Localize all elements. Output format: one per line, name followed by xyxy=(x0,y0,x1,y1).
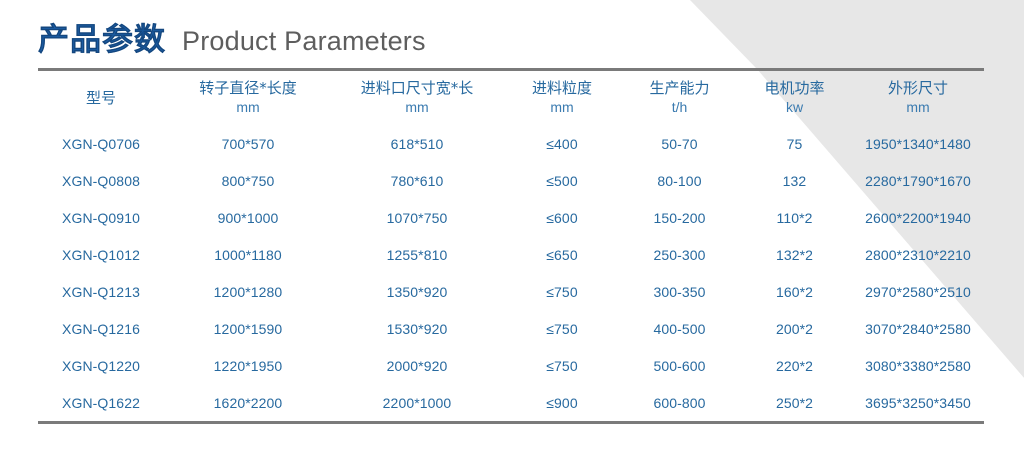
column-header-rotor-label: 转子直径*长度 xyxy=(164,79,332,98)
table-row: XGN-Q12161200*15901530*920≤750400-500200… xyxy=(38,310,984,347)
table-cell-feed_size: ≤750 xyxy=(502,273,622,310)
column-header-feed-opening-unit: mm xyxy=(332,99,502,117)
column-header-feed-size-unit: mm xyxy=(502,99,622,117)
table-cell-dimension: 2970*2580*2510 xyxy=(852,273,984,310)
table-row: XGN-Q12131200*12801350*920≤750300-350160… xyxy=(38,273,984,310)
table-cell-dimension: 3070*2840*2580 xyxy=(852,310,984,347)
table-cell-rotor: 1000*1180 xyxy=(164,236,332,273)
table-cell-capacity: 150-200 xyxy=(622,199,737,236)
column-header-rotor-unit: mm xyxy=(164,99,332,117)
table-cell-rotor: 1200*1590 xyxy=(164,310,332,347)
table-row: XGN-Q16221620*22002200*1000≤900600-80025… xyxy=(38,384,984,421)
column-header-model-label: 型号 xyxy=(38,89,164,108)
table-row: XGN-Q12201220*19502000*920≤750500-600220… xyxy=(38,347,984,384)
table-cell-dimension: 2280*1790*1670 xyxy=(852,162,984,199)
table-cell-capacity: 250-300 xyxy=(622,236,737,273)
table-cell-feed_open: 1530*920 xyxy=(332,310,502,347)
table-cell-feed_size: ≤750 xyxy=(502,347,622,384)
table-cell-power: 75 xyxy=(737,125,852,162)
table-cell-power: 200*2 xyxy=(737,310,852,347)
table-cell-feed_open: 618*510 xyxy=(332,125,502,162)
table-cell-feed_open: 2200*1000 xyxy=(332,384,502,421)
column-header-motor-power-label: 电机功率 xyxy=(737,79,852,98)
column-header-feed-size: 进料粒度 mm xyxy=(502,71,622,125)
table-row: XGN-Q10121000*11801255*810≤650250-300132… xyxy=(38,236,984,273)
table-cell-feed_open: 1350*920 xyxy=(332,273,502,310)
table-cell-feed_open: 1255*810 xyxy=(332,236,502,273)
column-header-feed-size-label: 进料粒度 xyxy=(502,79,622,98)
page-header: 产品参数 Product Parameters xyxy=(38,14,426,59)
column-header-dimension-label: 外形尺寸 xyxy=(852,79,984,98)
table-cell-model: XGN-Q1622 xyxy=(38,384,164,421)
table-cell-model: XGN-Q0706 xyxy=(38,125,164,162)
table-cell-capacity: 80-100 xyxy=(622,162,737,199)
table-cell-rotor: 1200*1280 xyxy=(164,273,332,310)
table-cell-rotor: 1220*1950 xyxy=(164,347,332,384)
table-cell-capacity: 600-800 xyxy=(622,384,737,421)
table-cell-model: XGN-Q1213 xyxy=(38,273,164,310)
page-title-cn: 产品参数 xyxy=(38,14,166,59)
table-row: XGN-Q0910900*10001070*750≤600150-200110*… xyxy=(38,199,984,236)
table-header-row: 型号 转子直径*长度 mm 进料口尺寸宽*长 mm 进料粒度 mm xyxy=(38,71,984,125)
column-header-dimension: 外形尺寸 mm xyxy=(852,71,984,125)
table-cell-capacity: 300-350 xyxy=(622,273,737,310)
table-cell-feed_size: ≤500 xyxy=(502,162,622,199)
table-cell-rotor: 900*1000 xyxy=(164,199,332,236)
table-cell-dimension: 2600*2200*1940 xyxy=(852,199,984,236)
column-header-capacity-label: 生产能力 xyxy=(622,79,737,98)
table-header: 型号 转子直径*长度 mm 进料口尺寸宽*长 mm 进料粒度 mm xyxy=(38,71,984,125)
table-body: XGN-Q0706700*570618*510≤40050-70751950*1… xyxy=(38,125,984,421)
table-cell-dimension: 3080*3380*2580 xyxy=(852,347,984,384)
table-cell-capacity: 500-600 xyxy=(622,347,737,384)
column-header-capacity: 生产能力 t/h xyxy=(622,71,737,125)
table-row: XGN-Q0706700*570618*510≤40050-70751950*1… xyxy=(38,125,984,162)
table-cell-power: 110*2 xyxy=(737,199,852,236)
column-header-feed-opening-label: 进料口尺寸宽*长 xyxy=(332,79,502,98)
table-cell-feed_open: 1070*750 xyxy=(332,199,502,236)
column-header-motor-power-unit: kw xyxy=(737,99,852,117)
table-bottom-rule xyxy=(38,421,984,424)
table-cell-capacity: 50-70 xyxy=(622,125,737,162)
column-header-rotor: 转子直径*长度 mm xyxy=(164,71,332,125)
table-cell-feed_size: ≤750 xyxy=(502,310,622,347)
table-cell-power: 132 xyxy=(737,162,852,199)
table-cell-dimension: 3695*3250*3450 xyxy=(852,384,984,421)
table-cell-rotor: 700*570 xyxy=(164,125,332,162)
table-cell-dimension: 2800*2310*2210 xyxy=(852,236,984,273)
column-header-feed-opening: 进料口尺寸宽*长 mm xyxy=(332,71,502,125)
table-cell-feed_open: 780*610 xyxy=(332,162,502,199)
table-cell-rotor: 1620*2200 xyxy=(164,384,332,421)
table-cell-feed_size: ≤900 xyxy=(502,384,622,421)
table-cell-dimension: 1950*1340*1480 xyxy=(852,125,984,162)
table-cell-power: 160*2 xyxy=(737,273,852,310)
table-cell-model: XGN-Q0808 xyxy=(38,162,164,199)
product-parameters-page: 产品参数 Product Parameters 型号 转子直径*长度 mm 进料… xyxy=(0,0,1024,475)
table-cell-feed_open: 2000*920 xyxy=(332,347,502,384)
table-cell-feed_size: ≤400 xyxy=(502,125,622,162)
product-parameters-table: 型号 转子直径*长度 mm 进料口尺寸宽*长 mm 进料粒度 mm xyxy=(38,71,984,421)
table-cell-model: XGN-Q1220 xyxy=(38,347,164,384)
column-header-dimension-unit: mm xyxy=(852,99,984,117)
column-header-motor-power: 电机功率 kw xyxy=(737,71,852,125)
table-cell-feed_size: ≤600 xyxy=(502,199,622,236)
table-cell-power: 220*2 xyxy=(737,347,852,384)
table-cell-power: 250*2 xyxy=(737,384,852,421)
table-cell-model: XGN-Q0910 xyxy=(38,199,164,236)
spec-table-container: 型号 转子直径*长度 mm 进料口尺寸宽*长 mm 进料粒度 mm xyxy=(38,68,984,424)
page-title-en: Product Parameters xyxy=(182,26,426,57)
column-header-capacity-unit: t/h xyxy=(622,99,737,117)
table-cell-feed_size: ≤650 xyxy=(502,236,622,273)
table-row: XGN-Q0808800*750780*610≤50080-1001322280… xyxy=(38,162,984,199)
table-cell-model: XGN-Q1012 xyxy=(38,236,164,273)
table-cell-capacity: 400-500 xyxy=(622,310,737,347)
column-header-model: 型号 xyxy=(38,71,164,125)
table-cell-power: 132*2 xyxy=(737,236,852,273)
table-cell-rotor: 800*750 xyxy=(164,162,332,199)
table-cell-model: XGN-Q1216 xyxy=(38,310,164,347)
